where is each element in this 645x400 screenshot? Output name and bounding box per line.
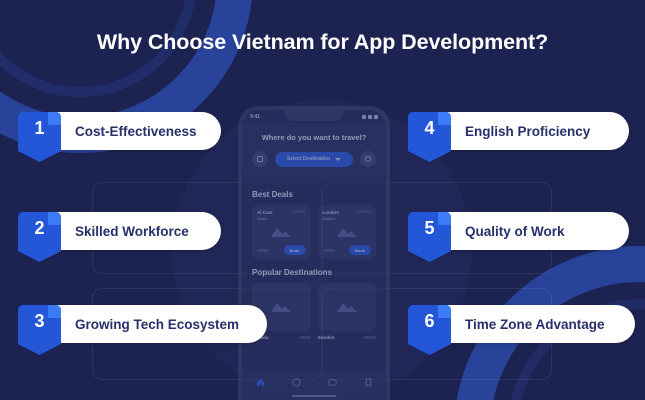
deal-price-bar	[257, 249, 269, 252]
best-deals-title: Best Deals	[252, 190, 376, 199]
phone-mockup: 9:41 Where do you want to travel? Select…	[238, 106, 390, 400]
deal-price-bar	[323, 249, 335, 252]
destination-dropdown[interactable]: Select Destination	[275, 152, 353, 167]
feature-badge: 5	[408, 212, 451, 262]
feature-item-1[interactable]: 1 Cost-Effectiveness	[18, 112, 221, 150]
deal-name: Ai Cam	[257, 210, 273, 215]
deal-book-button[interactable]: Book	[349, 245, 371, 255]
mountain-icon	[336, 301, 358, 313]
feature-badge: 6	[408, 305, 451, 355]
deal-subtitle: Station	[323, 216, 340, 221]
deal-placeholder-bar	[292, 210, 306, 213]
feature-label: Quality of Work	[439, 212, 629, 250]
home-icon[interactable]	[256, 378, 265, 387]
deal-book-button[interactable]: Book	[284, 245, 306, 255]
mountain-icon	[323, 226, 372, 238]
phone-screen: 9:41 Where do you want to travel? Select…	[242, 110, 386, 400]
feature-badge: 4	[408, 112, 451, 162]
deal-card[interactable]: London Station Book	[318, 205, 377, 259]
compass-icon[interactable]	[292, 378, 301, 387]
feature-label: English Proficiency	[439, 112, 629, 150]
feature-number: 6	[408, 312, 451, 330]
page-title: Why Choose Vietnam for App Development?	[0, 30, 645, 55]
feature-item-3[interactable]: 3 Growing Tech Ecosystem	[18, 305, 267, 343]
status-bar: 9:41	[242, 110, 386, 123]
search-icon[interactable]	[360, 151, 376, 167]
best-deals-cards: Ai Cam Deals Book	[252, 205, 376, 259]
hero-controls: Select Destination	[252, 151, 376, 167]
destination-rating-bar	[299, 336, 311, 339]
feature-number: 4	[408, 119, 451, 137]
deal-subtitle: Deals	[257, 216, 273, 221]
popular-destinations-title: Popular Destinations	[252, 268, 376, 277]
deal-card[interactable]: Ai Cam Deals Book	[252, 205, 311, 259]
mountain-icon	[257, 226, 306, 238]
chat-icon[interactable]	[328, 378, 337, 387]
hero-section: Where do you want to travel? Select Dest…	[242, 123, 386, 181]
feature-badge: 1	[18, 112, 61, 162]
battery-icon	[374, 115, 378, 119]
hero-heading: Where do you want to travel?	[252, 133, 376, 142]
wifi-icon	[368, 115, 372, 119]
deal-name: London	[323, 210, 340, 215]
feature-label: Growing Tech Ecosystem	[49, 305, 267, 343]
bookmark-icon[interactable]	[364, 378, 373, 387]
feature-item-6[interactable]: 6 Time Zone Advantage	[408, 305, 635, 343]
destination-captions: Canada Sweden	[252, 335, 376, 340]
mountain-icon	[270, 301, 292, 313]
destination-card[interactable]	[318, 283, 377, 331]
destination-rating-bar	[364, 336, 376, 339]
feature-label: Cost-Effectiveness	[49, 112, 221, 150]
deal-placeholder-bar	[357, 210, 371, 213]
feature-label: Skilled Workforce	[49, 212, 221, 250]
feature-number: 1	[18, 119, 61, 137]
destination-cards	[252, 283, 376, 331]
infographic-canvas: Why Choose Vietnam for App Development? …	[0, 0, 645, 400]
signal-icon	[362, 115, 366, 119]
feature-number: 5	[408, 219, 451, 237]
feature-item-4[interactable]: 4 English Proficiency	[408, 112, 629, 150]
home-indicator	[292, 395, 336, 398]
status-time: 9:41	[250, 114, 260, 120]
calendar-icon[interactable]	[252, 151, 268, 167]
feature-label: Time Zone Advantage	[439, 305, 635, 343]
feature-number: 2	[18, 219, 61, 237]
chevron-down-icon	[335, 158, 341, 161]
destination-name: Sweden	[318, 335, 335, 340]
dropdown-label: Select Destination	[287, 156, 330, 162]
feature-badge: 2	[18, 212, 61, 262]
status-icons	[362, 115, 378, 119]
feature-item-2[interactable]: 2 Skilled Workforce	[18, 212, 221, 250]
feature-badge: 3	[18, 305, 61, 355]
best-deals-section: Best Deals Ai Cam Deals	[242, 181, 386, 259]
feature-item-5[interactable]: 5 Quality of Work	[408, 212, 629, 250]
feature-number: 3	[18, 312, 61, 330]
